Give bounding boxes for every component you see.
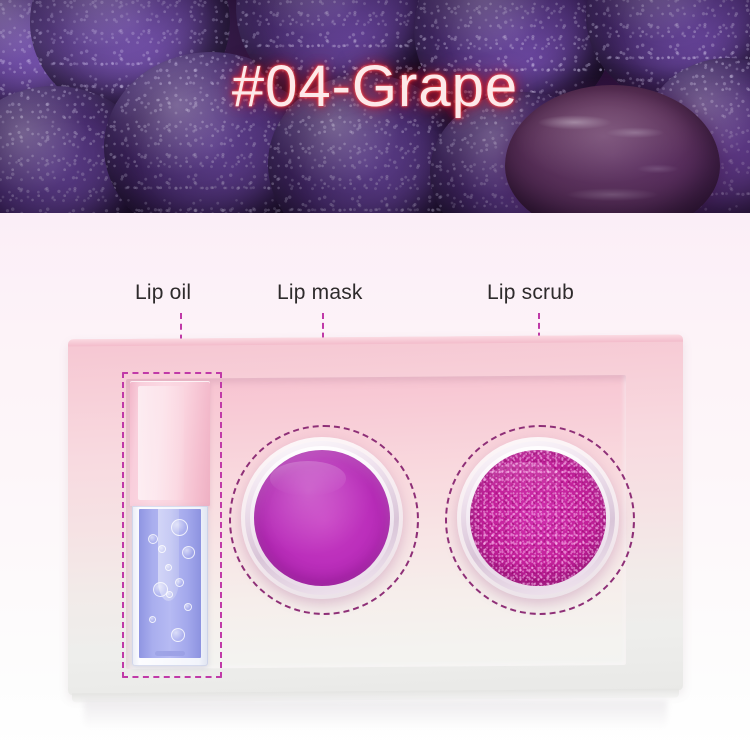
callout-label-lip-scrub: Lip scrub (487, 281, 574, 305)
callout-label-lip-mask: Lip mask (277, 281, 363, 305)
callout-label-lip-oil: Lip oil (135, 281, 191, 305)
callout-marker-lip-scrub (445, 425, 635, 615)
product-marketing-image: #04-Grape Lip oil Lip mask Lip scrub (0, 0, 750, 750)
box-reflection (84, 700, 667, 730)
callout-marker-lip-mask (229, 425, 419, 615)
callout-marker-lip-oil (122, 372, 222, 678)
page-title: #04-Grape (0, 58, 750, 116)
